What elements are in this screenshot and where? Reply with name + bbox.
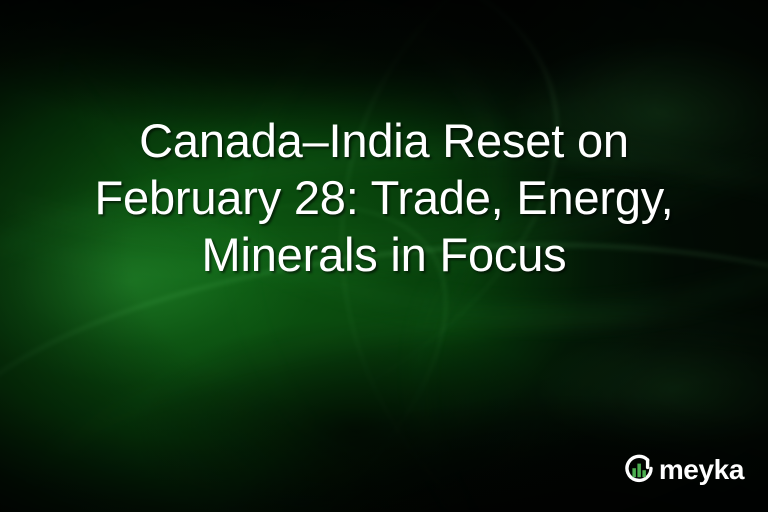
brand-logo[interactable]: meyka [622, 452, 744, 488]
page-title: Canada–India Reset on February 28: Trade… [0, 112, 768, 283]
poster-canvas: Canada–India Reset on February 28: Trade… [0, 0, 768, 512]
brand-wordmark: meyka [659, 456, 744, 484]
circle-bar-chart-icon [622, 453, 656, 487]
